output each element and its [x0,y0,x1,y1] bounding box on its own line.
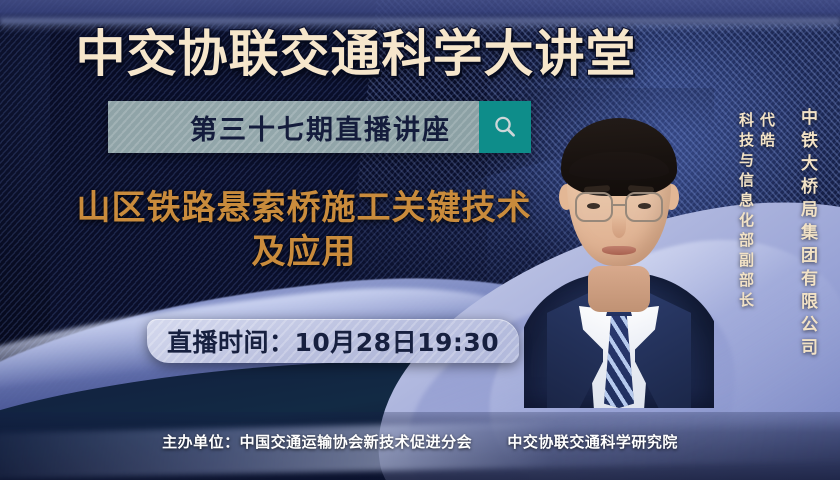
search-icon [492,114,518,140]
lecture-title: 山区铁路悬索桥施工关键技术 及应用 [34,186,574,274]
speaker-position: 科技与信息化部副部长 [736,112,757,312]
broadcast-time-badge: 直播时间：10月28日19:30 [147,319,519,363]
glasses-bridge-icon [613,204,625,206]
footer: 主办单位：中国交通运输协会新技术促进分会 中交协联交通科学研究院 [0,431,840,452]
footer-organizer: 主办单位：中国交通运输协会新技术促进分会 [162,434,472,451]
speaker-organization: 中铁大桥局集团有限公司 [795,108,820,361]
speaker-name: 代皓 [757,112,778,312]
page-title: 中交协联交通科学大讲堂 [0,14,712,86]
broadcast-time-text: 直播时间：10月28日19:30 [167,323,499,359]
speaker-hair [561,118,677,196]
webinar-poster: 中交协联交通科学大讲堂 第三十七期直播讲座 山区铁路悬索桥施工关键技术 及应用 … [0,0,840,480]
speaker-mouth [602,246,636,255]
glasses-lens-left-icon [575,192,613,222]
speaker-identity: 代皓 科技与信息化部副部长 [736,112,778,312]
lecture-title-line-1: 山区铁路悬索桥施工关键技术 [34,186,574,230]
episode-label: 第三十七期直播讲座 [108,101,479,153]
speaker-neck [588,266,650,312]
search-button[interactable] [479,101,531,153]
footer-institute: 中交协联交通科学研究院 [507,434,678,451]
speaker-nose [612,216,626,238]
episode-banner: 第三十七期直播讲座 [108,101,531,153]
lecture-title-line-2: 及应用 [34,230,574,274]
glasses-lens-right-icon [625,192,663,222]
